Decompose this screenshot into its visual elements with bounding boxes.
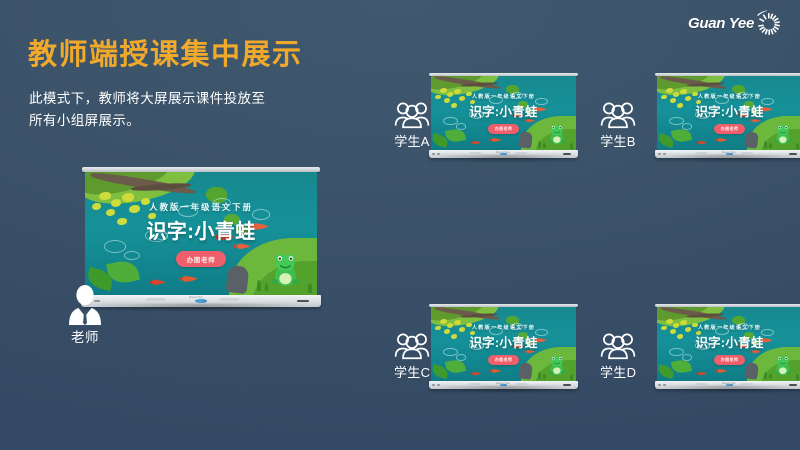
slide-canvas: Guan Yee xyxy=(0,0,800,450)
bezel-speaker-grille xyxy=(515,383,528,385)
slide-lesson-title: 识字:小青蛙 xyxy=(469,101,537,120)
slide-author-badge: 办图老师 xyxy=(714,124,746,134)
slide-text-block: 人教版一年级语文下册 识字:小青蛙 办图老师 xyxy=(85,172,317,295)
bezel-io-slot xyxy=(297,300,309,302)
group-people-icon xyxy=(394,100,430,130)
display-shadow xyxy=(90,304,313,311)
slide-series-line: 人教版一年级语文下册 xyxy=(472,93,535,100)
bezel-speaker-grille xyxy=(695,152,708,154)
display-shadow xyxy=(434,155,573,162)
slide-author-badge: 办图老师 xyxy=(488,124,520,134)
display-screen[interactable]: 人教版一年级语文下册 识字:小青蛙 办图老师 xyxy=(85,172,317,295)
display-screen[interactable]: 人教版一年级语文下册 识字:小青蛙 办图老师 xyxy=(657,307,800,381)
slide-text-block: 人教版一年级语文下册 识字:小青蛙 办图老师 xyxy=(431,307,576,381)
slide-author-badge: 办图老师 xyxy=(488,355,520,365)
slide-text-block: 人教版一年级语文下册 识字:小青蛙 办图老师 xyxy=(657,307,800,381)
slide-series-line: 人教版一年级语文下册 xyxy=(149,201,253,213)
student-display-c[interactable]: 人教版一年级语文下册 识字:小青蛙 办图老师 Guan Yee xyxy=(431,304,576,389)
courseware-slide: 人教版一年级语文下册 识字:小青蛙 办图老师 xyxy=(657,76,800,150)
page-title: 教师端授课集中展示 xyxy=(28,40,303,72)
slide-lesson-title: 识字:小青蛙 xyxy=(695,332,763,351)
courseware-slide: 人教版一年级语文下册 识字:小青蛙 办图老师 xyxy=(657,307,800,381)
brand-logo-text: Guan Yee xyxy=(688,16,754,31)
display-screen[interactable]: 人教版一年级语文下册 识字:小青蛙 办图老师 xyxy=(657,76,800,150)
group-people-icon xyxy=(394,331,430,361)
slide-lesson-title: 识字:小青蛙 xyxy=(695,101,763,120)
student-actor-a[interactable]: 学生A xyxy=(394,100,430,150)
bezel-speaker-grille xyxy=(741,383,754,385)
courseware-slide: 人教版一年级语文下册 识字:小青蛙 办图老师 xyxy=(431,307,576,381)
display-shadow xyxy=(660,386,799,393)
student-display-a[interactable]: 人教版一年级语文下册 识字:小青蛙 办图老师 Guan Yee xyxy=(431,73,576,158)
display-shadow xyxy=(660,155,799,162)
group-people-icon xyxy=(600,331,636,361)
slide-author-badge: 办图老师 xyxy=(176,251,227,267)
teacher-actor[interactable]: 老师 xyxy=(66,283,104,346)
bezel-speaker-grille xyxy=(469,383,482,385)
group-people-icon xyxy=(600,100,636,130)
student-actor-c[interactable]: 学生C xyxy=(394,331,430,381)
bezel-speaker-grille xyxy=(145,298,165,301)
student-label-d: 学生D xyxy=(600,362,636,381)
bezel-speaker-grille xyxy=(220,298,240,301)
student-label-c: 学生C xyxy=(394,362,430,381)
slide-lesson-title: 识字:小青蛙 xyxy=(469,332,537,351)
slide-series-line: 人教版一年级语文下册 xyxy=(472,324,535,331)
swirl-ring-icon xyxy=(754,10,784,36)
student-actor-b[interactable]: 学生B xyxy=(600,100,636,150)
student-label-a: 学生A xyxy=(394,131,430,150)
slide-text-block: 人教版一年级语文下册 识字:小青蛙 办图老师 xyxy=(431,76,576,150)
slide-series-line: 人教版一年级语文下册 xyxy=(698,324,761,331)
teacher-label: 老师 xyxy=(71,326,99,346)
student-actor-d[interactable]: 学生D xyxy=(600,331,636,381)
bezel-speaker-grille xyxy=(515,152,528,154)
page-subtitle: 此模式下，教师将大屏展示课件投放至所有小组屏展示。 xyxy=(29,88,279,133)
display-shadow xyxy=(434,386,573,393)
main-display-panel[interactable]: 人教版一年级语文下册 识字:小青蛙 办图老师 Guan Yee xyxy=(85,167,317,307)
slide-text-block: 人教版一年级语文下册 识字:小青蛙 办图老师 xyxy=(657,76,800,150)
teacher-avatar-icon xyxy=(66,283,104,325)
student-label-b: 学生B xyxy=(600,131,636,150)
bezel-speaker-grille xyxy=(469,152,482,154)
slide-lesson-title: 识字:小青蛙 xyxy=(146,215,255,244)
brand-logo: Guan Yee xyxy=(680,6,784,40)
courseware-slide: 人教版一年级语文下册 识字:小青蛙 办图老师 xyxy=(85,172,317,295)
power-button[interactable] xyxy=(195,299,206,303)
display-screen[interactable]: 人教版一年级语文下册 识字:小青蛙 办图老师 xyxy=(431,307,576,381)
display-screen[interactable]: 人教版一年级语文下册 识字:小青蛙 办图老师 xyxy=(431,76,576,150)
student-display-b[interactable]: 人教版一年级语文下册 识字:小青蛙 办图老师 Guan Yee xyxy=(657,73,800,158)
courseware-slide: 人教版一年级语文下册 识字:小青蛙 办图老师 xyxy=(431,76,576,150)
bezel-speaker-grille xyxy=(741,152,754,154)
bezel-speaker-grille xyxy=(695,383,708,385)
slide-series-line: 人教版一年级语文下册 xyxy=(698,93,761,100)
slide-author-badge: 办图老师 xyxy=(714,355,746,365)
student-display-d[interactable]: 人教版一年级语文下册 识字:小青蛙 办图老师 Guan Yee xyxy=(657,304,800,389)
